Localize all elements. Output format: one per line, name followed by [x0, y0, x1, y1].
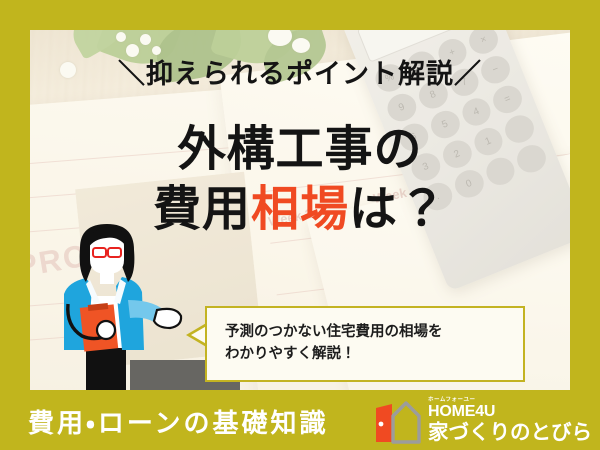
- title-accent: 相場: [251, 183, 349, 236]
- character-skirt: [86, 344, 126, 392]
- logo-house-outline: [393, 403, 419, 442]
- banner-root: PROJECT Week 2 Week 3 Week 4 %÷+× 987− 6…: [0, 0, 600, 450]
- logo-brand-name: HOME4U: [428, 404, 588, 421]
- brand-logo[interactable]: ホームフォーユー HOME4U 家づくりのとびら: [362, 396, 590, 446]
- title-suffix: は？: [349, 183, 447, 236]
- character-hand-pointing: [154, 309, 181, 328]
- logo-door-knob: [379, 422, 384, 427]
- footer-bar: 費用・ローンの基礎知識 ホームフォーユー HOME4U 家づくりのとびら: [0, 390, 600, 450]
- house-door-logo-icon: [362, 398, 424, 444]
- bubble-line-2: わかりやすく解説！: [225, 343, 507, 365]
- bubble-line-1: 予測のつかない住宅費用の相場を: [225, 321, 507, 343]
- footer-category-label: 費用・ローンの基礎知識: [28, 403, 329, 440]
- brand-logo-text: ホームフォーユー HOME4U 家づくりのとびら: [428, 396, 588, 445]
- logo-service-name: 家づくりのとびら: [428, 421, 588, 445]
- illustration-woman-character: [44, 222, 184, 392]
- title-line-1: 外構工事の: [0, 124, 600, 176]
- character-hand-left: [97, 321, 115, 339]
- kicker-text: ＼抑えられるポイント解説／: [0, 52, 600, 91]
- page-title: 外構工事の 費用相場は？: [0, 124, 600, 236]
- speech-bubble: 予測のつかない住宅費用の相場を わかりやすく解説！: [205, 306, 525, 382]
- logo-open-door: [376, 404, 392, 442]
